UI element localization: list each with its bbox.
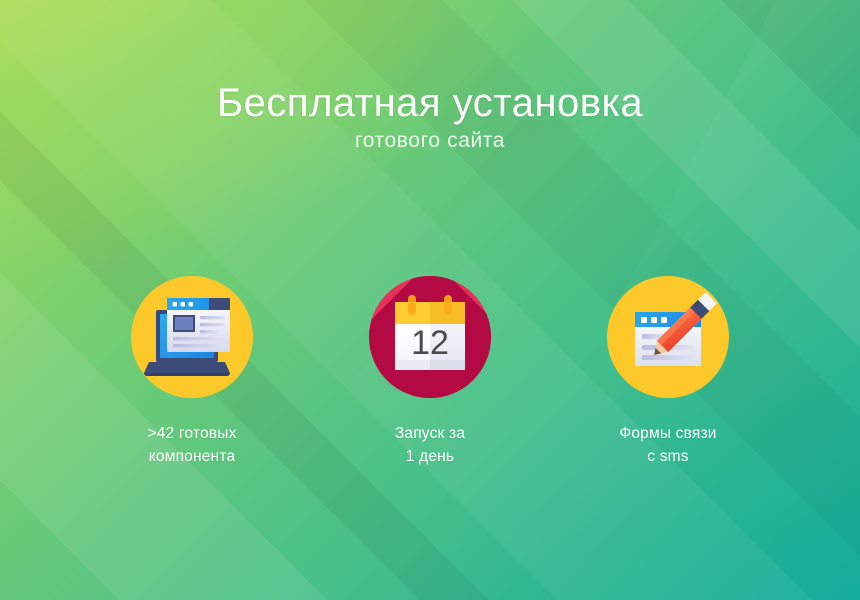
calendar-icon: 12: [369, 276, 491, 398]
feature-caption-forms: Формы связи с sms: [619, 422, 716, 469]
feature-caption-line2: с sms: [619, 445, 716, 468]
laptop-browser-icon: [131, 276, 253, 398]
banner-subtitle: готового сайта: [0, 129, 860, 153]
feature-icon-circle-forms: [607, 276, 729, 398]
feature-icon-circle-launch: 12: [369, 276, 491, 398]
feature-caption-line1: Запуск за: [395, 425, 465, 442]
feature-item-launch[interactable]: 12 Запуск за 1 день: [311, 276, 549, 469]
feature-caption-line1: >42 готовых: [147, 425, 236, 442]
banner-heading-group: Бесплатная установка готового сайта: [0, 82, 860, 153]
feature-caption-launch: Запуск за 1 день: [395, 422, 465, 469]
feature-item-forms[interactable]: Формы связи с sms: [549, 276, 787, 469]
feature-item-components[interactable]: >42 готовых компонента: [73, 276, 311, 469]
form-pencil-icon: [607, 276, 729, 398]
banner-title: Бесплатная установка: [0, 82, 860, 125]
feature-caption-line1: Формы связи: [619, 425, 716, 442]
feature-caption-line2: 1 день: [395, 445, 465, 468]
feature-list: >42 готовых компонента: [0, 276, 860, 469]
feature-caption-components: >42 готовых компонента: [147, 422, 236, 469]
promo-banner: Бесплатная установка готового сайта: [0, 0, 860, 600]
feature-caption-line2: компонента: [147, 445, 236, 468]
feature-icon-circle-components: [131, 276, 253, 398]
calendar-day-number: 12: [411, 324, 449, 362]
